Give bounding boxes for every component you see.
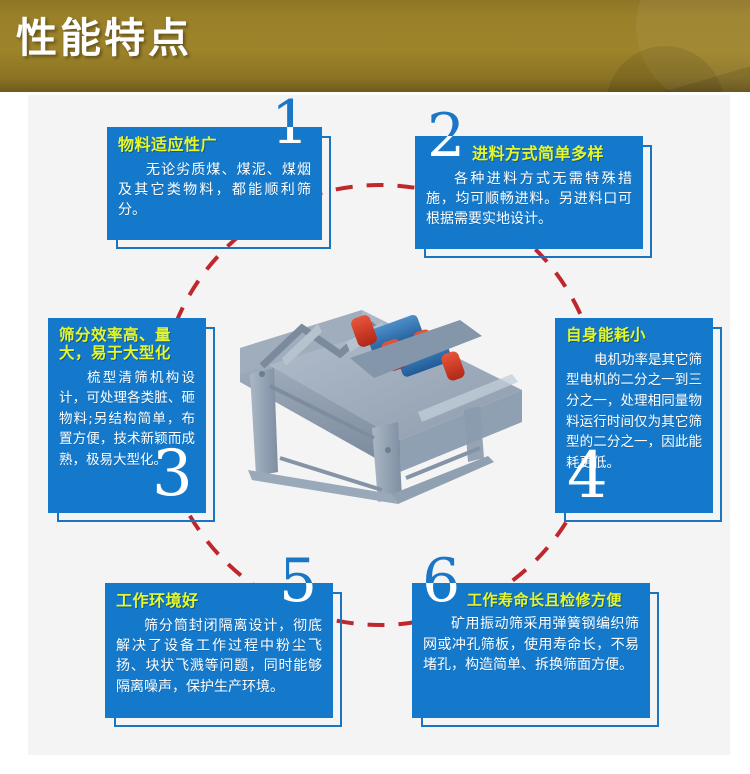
feature-heading: 自身能耗小 xyxy=(566,327,702,345)
feature-text: 电机功率是其它筛型电机的二分之一到三分之一，处理相同量物料运行时间仅为其它筛型的… xyxy=(566,350,702,473)
feature-text: 梳型清筛机构设计，可处理各类脏、砸物料;另结构简单，布置方便，技术新颖而成熟，极… xyxy=(59,368,195,471)
vibrating-screen-machine xyxy=(222,262,542,530)
feature-card-4[interactable]: 自身能耗小 电机功率是其它筛型电机的二分之一到三分之一，处理相同量物料运行时间仅… xyxy=(555,318,713,513)
feature-text: 各种进料方式无需特殊措施，均可顺畅进料。另进料口可根据需要实地设计。 xyxy=(426,169,632,230)
feature-heading: 工作环境好 xyxy=(116,592,322,611)
card-body: 工作寿命长且检修方便 矿用振动筛采用弹簧钢编织筛网或冲孔筛板，使用寿命长，不易堵… xyxy=(412,583,650,718)
card-body: 自身能耗小 电机功率是其它筛型电机的二分之一到三分之一，处理相同量物料运行时间仅… xyxy=(555,318,713,513)
card-body: 物料适应性广 无论劣质煤、煤泥、煤烟及其它类物料，都能顺利筛分。 xyxy=(107,127,322,240)
feature-heading: 物料适应性广 xyxy=(118,136,311,155)
feature-text: 矿用振动筛采用弹簧钢编织筛网或冲孔筛板，使用寿命长，不易堵孔，构造简单、拆换筛面… xyxy=(423,614,639,675)
feature-card-3[interactable]: 筛分效率高、量大，易于大型化 梳型清筛机构设计，可处理各类脏、砸物料;另结构简单… xyxy=(48,318,206,513)
feature-card-6[interactable]: 工作寿命长且检修方便 矿用振动筛采用弹簧钢编织筛网或冲孔筛板，使用寿命长，不易堵… xyxy=(412,583,650,718)
card-body: 工作环境好 筛分筒封闭隔离设计，彻底解决了设备工作过程中粉尘飞扬、块状飞溅等问题… xyxy=(105,583,333,718)
feature-text: 无论劣质煤、煤泥、煤烟及其它类物料，都能顺利筛分。 xyxy=(118,160,311,221)
page-header: 性能特点 xyxy=(0,0,750,92)
feature-card-2[interactable]: 进料方式简单多样 各种进料方式无需特殊措施，均可顺畅进料。另进料口可根据需要实地… xyxy=(415,136,643,249)
feature-text: 筛分筒封闭隔离设计，彻底解决了设备工作过程中粉尘飞扬、块状飞溅等问题，同时能够隔… xyxy=(116,616,322,698)
feature-heading: 筛分效率高、量大，易于大型化 xyxy=(59,327,195,363)
feature-heading: 工作寿命长且检修方便 xyxy=(423,592,639,609)
feature-card-5[interactable]: 工作环境好 筛分筒封闭隔离设计，彻底解决了设备工作过程中粉尘飞扬、块状飞溅等问题… xyxy=(105,583,333,718)
infographic-page: 性能特点 xyxy=(0,0,750,774)
card-body: 筛分效率高、量大，易于大型化 梳型清筛机构设计，可处理各类脏、砸物料;另结构简单… xyxy=(48,318,206,513)
page-title: 性能特点 xyxy=(16,17,192,60)
feature-card-1[interactable]: 物料适应性广 无论劣质煤、煤泥、煤烟及其它类物料，都能顺利筛分。 1 1 xyxy=(107,127,322,240)
card-body: 进料方式简单多样 各种进料方式无需特殊措施，均可顺畅进料。另进料口可根据需要实地… xyxy=(415,136,643,249)
feature-heading: 进料方式简单多样 xyxy=(426,145,632,164)
